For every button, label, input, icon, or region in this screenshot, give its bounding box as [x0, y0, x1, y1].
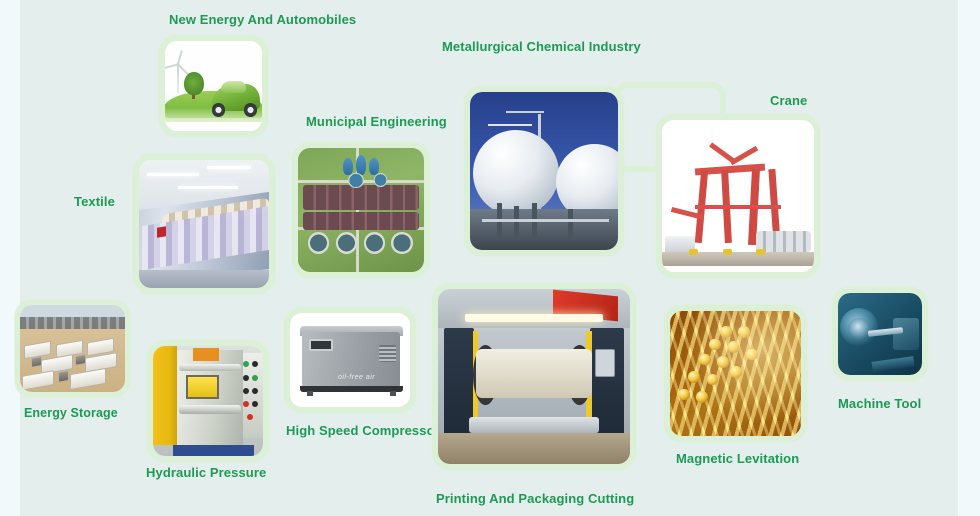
- label-compressor: High Speed Compressor: [286, 423, 440, 438]
- photo-compressor: oil-free air: [290, 313, 410, 407]
- photo-municipal: [298, 148, 424, 272]
- card-energy-storage[interactable]: [15, 300, 130, 397]
- photo-crane: [662, 120, 814, 272]
- label-crane: Crane: [770, 93, 807, 108]
- card-metallurgical[interactable]: [464, 86, 624, 256]
- photo-hydraulic: [153, 346, 263, 456]
- photo-energy-storage: [20, 305, 125, 392]
- card-hydraulic[interactable]: [147, 340, 269, 462]
- label-new-energy: New Energy And Automobiles: [169, 12, 356, 27]
- card-new-energy[interactable]: [159, 35, 268, 137]
- card-machine-tool[interactable]: [832, 287, 928, 381]
- card-municipal[interactable]: [292, 142, 430, 278]
- photo-textile: [139, 160, 269, 288]
- photo-maglev: [670, 311, 801, 436]
- label-printing: Printing And Packaging Cutting: [436, 491, 634, 506]
- card-textile[interactable]: [133, 154, 275, 294]
- label-municipal: Municipal Engineering: [306, 114, 447, 129]
- photo-new-energy: [165, 41, 262, 131]
- card-compressor[interactable]: oil-free air: [284, 307, 416, 413]
- label-metallurgical: Metallurgical Chemical Industry: [442, 39, 641, 54]
- card-crane[interactable]: [656, 114, 820, 278]
- label-energy-storage: Energy Storage: [24, 406, 118, 420]
- photo-metallurgical: [470, 92, 618, 250]
- card-maglev[interactable]: [664, 305, 807, 442]
- label-machine-tool: Machine Tool: [838, 396, 921, 411]
- label-maglev: Magnetic Levitation: [676, 451, 799, 466]
- label-textile: Textile: [74, 194, 115, 209]
- card-printing[interactable]: [432, 283, 636, 470]
- industry-application-diagram: New Energy And Automobiles Metallurgical…: [0, 0, 980, 516]
- label-hydraulic: Hydraulic Pressure: [146, 465, 266, 480]
- photo-printing: [438, 289, 630, 464]
- photo-machine-tool: [838, 293, 922, 375]
